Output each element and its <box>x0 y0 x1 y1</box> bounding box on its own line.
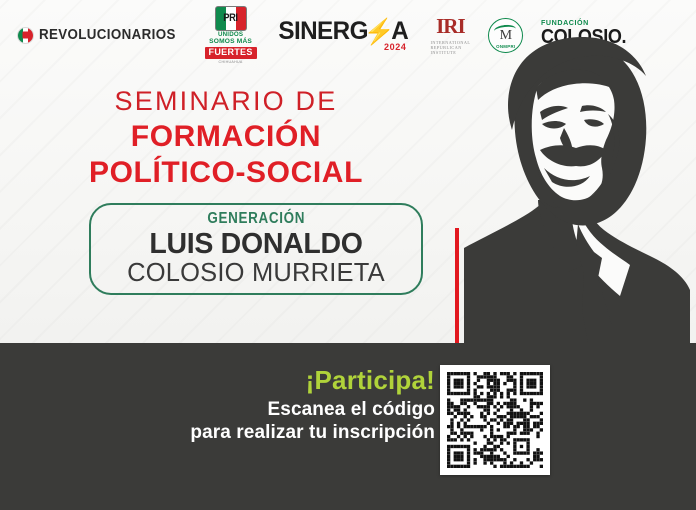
logo-strip: REVOLUCIONARIOS PRI UNIDOS SOMOS MÁS FUE… <box>0 0 520 70</box>
sinergia-label-tail: A <box>391 19 408 44</box>
portrait-luis-donaldo-colosio <box>452 10 696 343</box>
headline-line3: POLÍTICO-SOCIAL <box>0 155 452 191</box>
generation-label: GENERACIÓN <box>207 211 305 227</box>
poster: REVOLUCIONARIOS PRI UNIDOS SOMOS MÁS FUE… <box>0 0 696 510</box>
sinergia-label: SINERG <box>278 19 367 44</box>
pri-sub: CHIHUAHUA <box>219 60 243 64</box>
pri-initials: PRI <box>223 13 237 24</box>
pri-shield-icon: PRI <box>215 6 247 31</box>
headline-line2: FORMACIÓN <box>0 119 452 155</box>
pri-line2: SOMOS MÁS <box>209 39 252 46</box>
cta-block: ¡Participa! Escanea el código para reali… <box>150 366 435 445</box>
qr-canvas[interactable] <box>447 372 543 468</box>
headline-line1: SEMINARIO DE <box>0 86 452 118</box>
cta-headline: ¡Participa! <box>150 366 435 395</box>
generation-name-line1: LUIS DONALDO <box>149 230 362 260</box>
qr-code[interactable] <box>440 365 550 475</box>
cta-line2: para realizar tu inscripción <box>150 421 435 445</box>
pri-circle-icon <box>17 27 34 44</box>
headline: SEMINARIO DE FORMACIÓN POLÍTICO-SOCIAL <box>0 86 452 191</box>
logo-sinergia: SINERG ⚡ A 2024 <box>277 19 409 52</box>
logo-revolucionarios: REVOLUCIONARIOS <box>17 27 188 44</box>
logo-revolucionarios-label: REVOLUCIONARIOS <box>39 27 176 43</box>
cta-line1: Escanea el código <box>150 398 435 422</box>
pri-badge-fuertes: FUERTES <box>205 47 257 59</box>
logo-pri-unidos: PRI UNIDOS SOMOS MÁS FUERTES CHIHUAHUA <box>205 6 257 64</box>
generation-name-line2: COLOSIO MURRIETA <box>127 259 385 287</box>
generation-box: GENERACIÓN LUIS DONALDO COLOSIO MURRIETA <box>89 203 423 295</box>
sinergia-row: SINERG ⚡ A <box>277 19 409 44</box>
